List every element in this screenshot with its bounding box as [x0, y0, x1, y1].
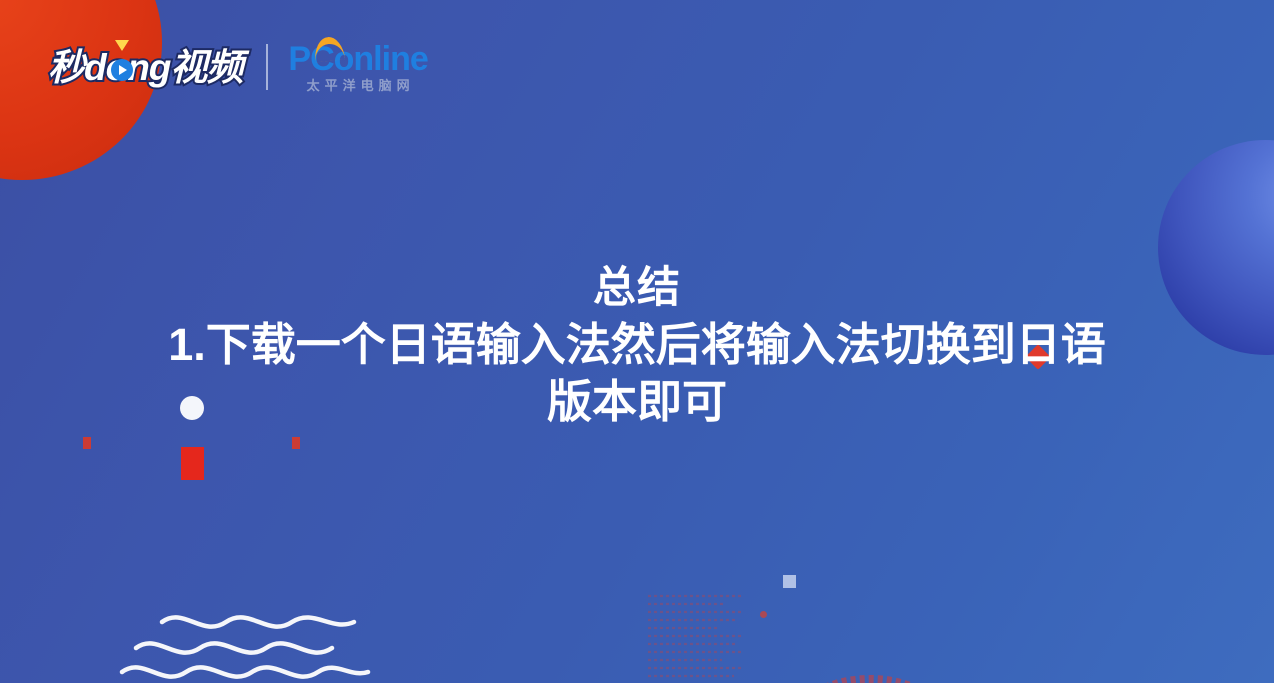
brand-header: 秒dong视频 PConline 太平洋电脑网: [48, 36, 428, 98]
light-square-decoration: [783, 575, 796, 588]
pconline-subtitle: 太平洋电脑网: [302, 79, 415, 92]
pconline-logo-text: PConline: [288, 42, 427, 76]
slide-title: 总结: [0, 265, 1274, 311]
red-square-decoration: [181, 447, 204, 480]
video-slide-canvas: 秒dong视频 PConline 太平洋电脑网 总结 1.下载一个日语输入法然后…: [0, 0, 1274, 683]
red-small-square-left-decoration: [83, 437, 91, 449]
red-dashed-lines-decoration: [648, 592, 744, 683]
miaodong-logo-text: 秒dong视频: [48, 47, 242, 88]
miaodong-logo: 秒dong视频: [48, 49, 242, 86]
heart-icon: [115, 40, 129, 51]
play-icon: [111, 59, 133, 81]
slide-text-block: 总结 1.下载一个日语输入法然后将输入法切换到日语版本即可: [0, 265, 1274, 430]
slide-body-text: 1.下载一个日语输入法然后将输入法切换到日语版本即可: [0, 317, 1274, 430]
red-small-square-right-decoration: [292, 437, 300, 449]
wave-lines-decoration: [118, 604, 388, 683]
brand-divider: [266, 44, 268, 90]
pconline-logo: PConline 太平洋电脑网: [288, 42, 427, 92]
red-dot-decoration: [760, 611, 767, 618]
red-arc-decoration: [795, 656, 945, 683]
